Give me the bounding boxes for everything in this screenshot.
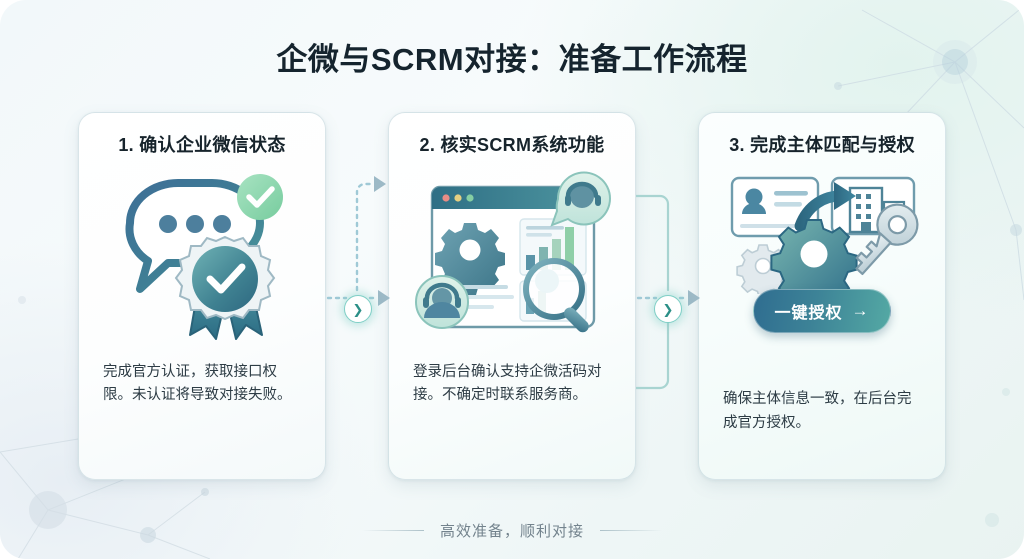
step-2-title: 2. 核实SCRM系统功能 xyxy=(420,135,605,157)
step-2-description: 登录后台确认支持企微活码对接。不确定时联系服务商。 xyxy=(409,361,615,408)
step-1-illustration xyxy=(96,165,308,351)
footer: 高效准备，顺利对接 xyxy=(0,520,1024,541)
step-card-2[interactable]: 2. 核实SCRM系统功能 xyxy=(388,112,636,480)
infographic-canvas: 企微与SCRM对接：准备工作流程 1. 确认企业微信状态 xyxy=(0,0,1024,559)
step-3-title: 3. 完成主体匹配与授权 xyxy=(729,135,915,157)
step-1-title: 1. 确认企业微信状态 xyxy=(118,135,285,157)
step-2-illustration xyxy=(406,165,618,351)
step-card-3[interactable]: 3. 完成主体匹配与授权 xyxy=(698,112,946,480)
one-click-authorize-button[interactable]: 一键授权 → xyxy=(753,289,890,333)
step-3-description: 确保主体信息一致，在后台完成官方授权。 xyxy=(719,388,925,461)
step-card-1[interactable]: 1. 确认企业微信状态 xyxy=(78,112,326,480)
page-title: 企微与SCRM对接：准备工作流程 xyxy=(0,34,1024,79)
dashboard-search-support-icon xyxy=(408,167,616,349)
footer-divider-left xyxy=(362,530,424,531)
footer-divider-right xyxy=(600,530,662,531)
step-3-illustration xyxy=(716,165,928,295)
one-click-authorize-label: 一键授权 xyxy=(774,299,842,323)
step-1-description: 完成官方认证，获取接口权限。未认证将导致对接失败。 xyxy=(99,361,305,408)
steps-row: 1. 确认企业微信状态 xyxy=(0,112,1024,482)
arrow-right-icon: → xyxy=(852,301,870,321)
chat-bubble-verified-icon xyxy=(102,167,302,349)
identity-match-authorize-icon xyxy=(722,166,922,294)
footer-text: 高效准备，顺利对接 xyxy=(440,520,584,541)
